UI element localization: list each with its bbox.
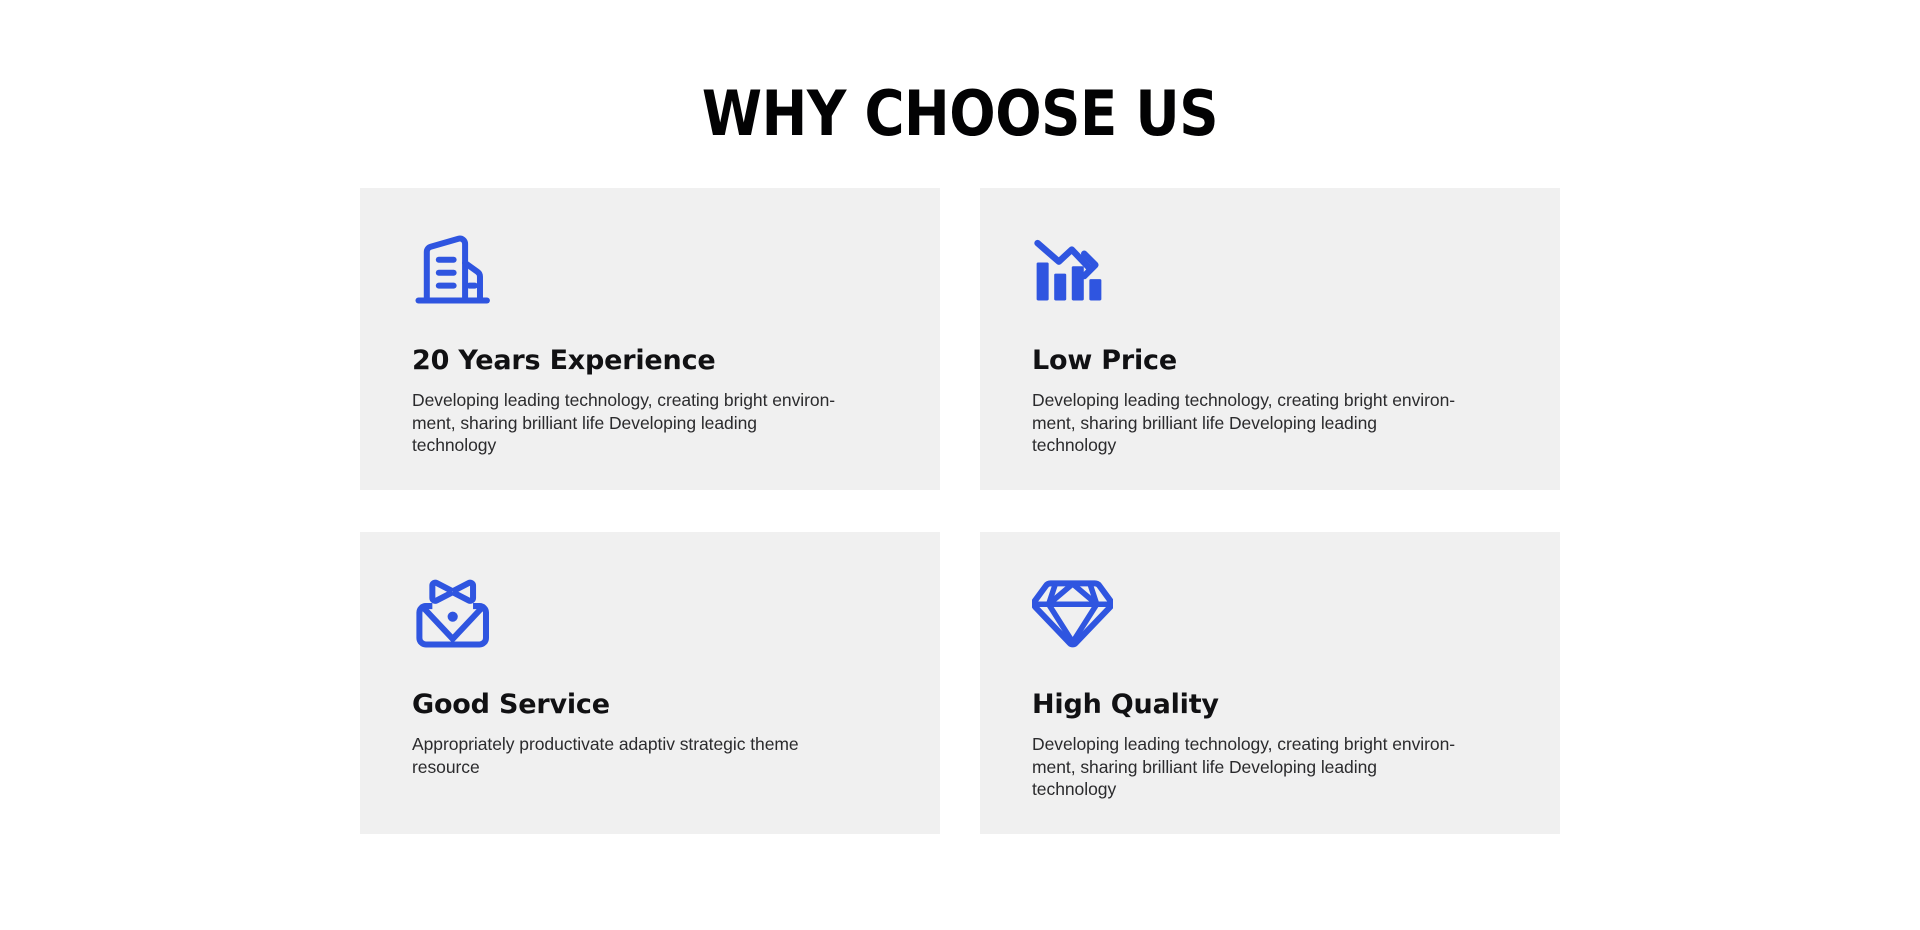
card-description: Developing leading technology, creating … [1032, 733, 1464, 801]
card-description: Appropriately productivate adaptiv strat… [412, 733, 844, 778]
feature-card-good-service[interactable]: Good Service Appropriately productivate … [360, 532, 940, 834]
feature-card-low-price[interactable]: Low Price Developing leading technology,… [980, 188, 1560, 490]
card-description: Developing leading technology, creating … [1032, 389, 1464, 457]
card-title: Low Price [1032, 344, 1508, 378]
page-title: WHY CHOOSE US [115, 82, 1805, 146]
diamond-gem-icon [1032, 576, 1508, 650]
feature-cards-grid: 20 Years Experience Developing leading t… [360, 188, 1560, 834]
card-title: 20 Years Experience [412, 344, 888, 378]
card-title: Good Service [412, 688, 888, 722]
feature-card-high-quality[interactable]: High Quality Developing leading technolo… [980, 532, 1560, 834]
card-description: Developing leading technology, creating … [412, 389, 844, 457]
feature-card-experience[interactable]: 20 Years Experience Developing leading t… [360, 188, 940, 490]
declining-bar-chart-icon [1032, 232, 1508, 306]
tuxedo-bowtie-icon [412, 576, 888, 650]
office-building-icon [412, 232, 888, 306]
why-choose-us-section: WHY CHOOSE US 20 Years Experience Develo… [0, 0, 1920, 930]
card-title: High Quality [1032, 688, 1508, 722]
